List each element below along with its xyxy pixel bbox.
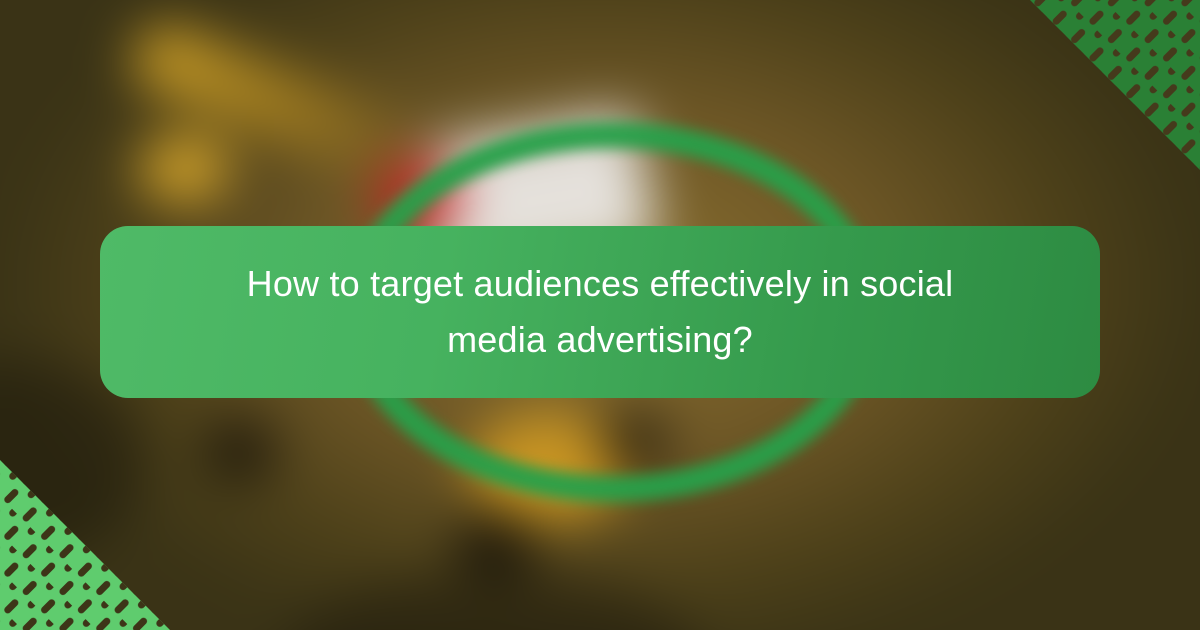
corner-decoration-top-right — [1030, 0, 1200, 170]
page-title: How to target audiences effectively in s… — [220, 256, 980, 368]
dashed-diagonal-pattern-icon — [0, 460, 170, 630]
corner-decoration-bottom-left — [0, 460, 170, 630]
cart-wheel-blur-left — [204, 420, 278, 480]
cart-handle-knob-blur — [138, 135, 230, 201]
cart-wheel-blur-center — [455, 510, 537, 576]
headline-card: How to target audiences effectively in s… — [100, 226, 1100, 398]
share-card-canvas: How to target audiences effectively in s… — [0, 0, 1200, 630]
dashed-diagonal-pattern-icon — [1030, 0, 1200, 170]
